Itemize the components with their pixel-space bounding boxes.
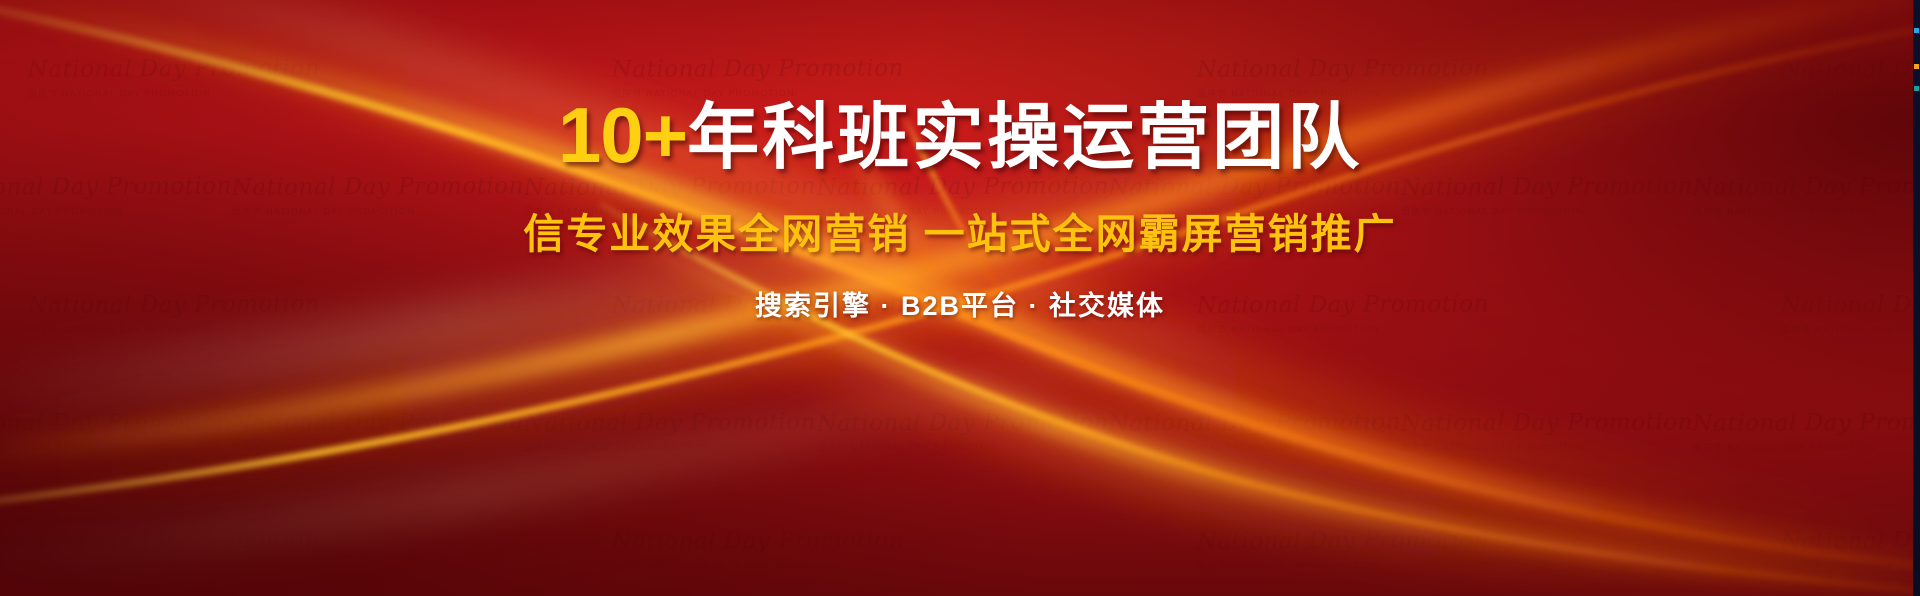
blue-dot-icon <box>1914 28 1919 33</box>
tagline: 搜索引擎 · B2B平台 · 社交媒体 <box>0 284 1920 323</box>
right-edge-strip <box>1913 0 1920 596</box>
headline-number: 10+ <box>558 91 687 179</box>
promotional-banner: National Day Promotion国庆节 NATIONAL DAY P… <box>0 0 1920 596</box>
banner-content: 10+年科班实操运营团队 信专业效果全网营销 一站式全网霸屏营销推广 搜索引擎 … <box>0 96 1920 323</box>
gold-dot-icon <box>1914 64 1919 69</box>
headline: 10+年科班实操运营团队 <box>0 96 1920 174</box>
teal-dot-icon <box>1914 86 1919 91</box>
headline-text: 年科班实操运营团队 <box>687 98 1362 178</box>
subheadline: 信专业效果全网营销 一站式全网霸屏营销推广 <box>0 200 1920 260</box>
